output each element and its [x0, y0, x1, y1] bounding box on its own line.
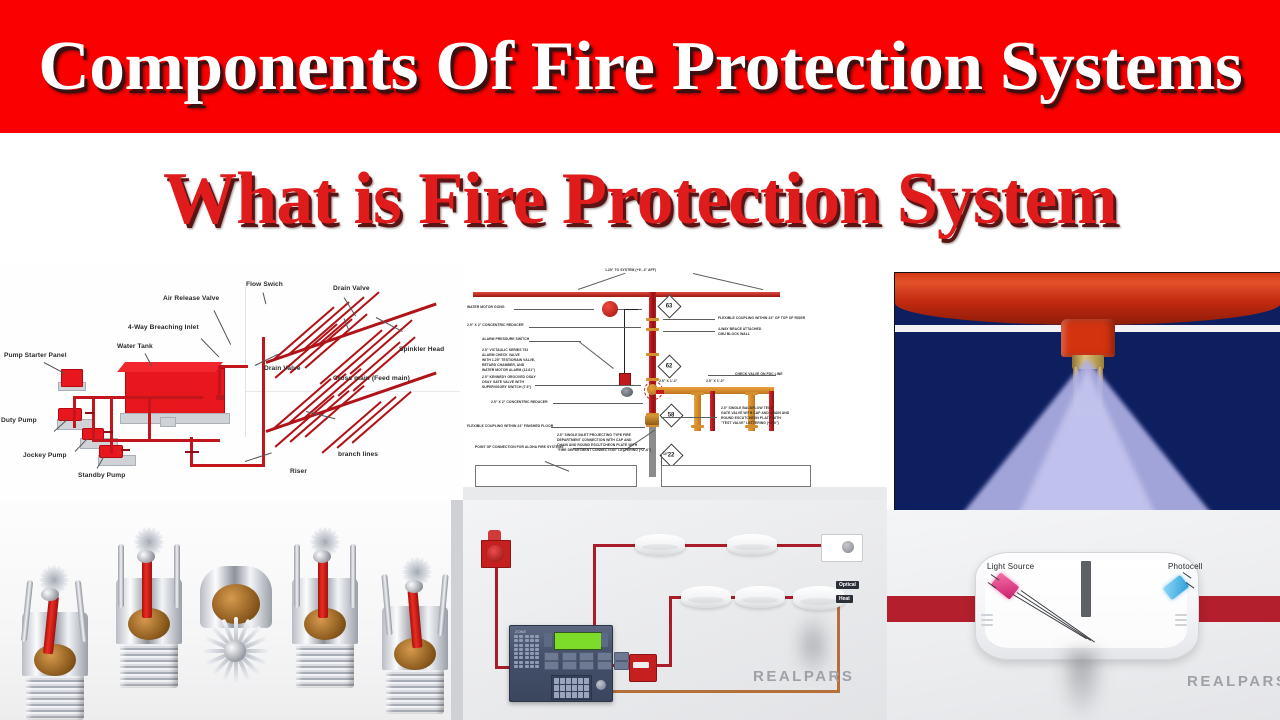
label-spinkler-head: Spinkler Head — [399, 346, 444, 353]
tag-optical: Optical — [836, 581, 859, 589]
label-pump-starter-panel: Pump Starter Panel — [4, 352, 67, 359]
zone-led-grid — [514, 635, 539, 668]
schematic-drawing: Pump Starter Panel Water Tank 4-Way Brea… — [0, 265, 463, 500]
label-drain-valve-top: Drain Valve — [333, 285, 370, 292]
smoke-detector-3 — [681, 586, 731, 608]
note-water-motor-gong: WATER MOTOR GONG — [467, 305, 505, 310]
vent-left-1 — [981, 614, 993, 616]
panel-keypad[interactable] — [551, 675, 592, 700]
panel-sprinkler-heads-photo — [0, 500, 463, 720]
bubble-22-text: 22 — [668, 453, 675, 459]
bubble-63-text: 63 — [666, 304, 673, 310]
interface-module-led — [842, 541, 854, 553]
image-collage: Pump Starter Panel Water Tank 4-Way Brea… — [0, 265, 1280, 720]
vent-right-1 — [1175, 614, 1187, 616]
bubble-58-text: 58 — [668, 413, 675, 419]
vent-right-2 — [1175, 619, 1187, 621]
note-kennedy-osy-valve: 2.5" KENNEDY GROOVED OS&Y OS&Y GATE VALV… — [482, 375, 536, 390]
subtitle-text: What is Fire Protection System — [163, 162, 1117, 236]
note-flexible-coupling-riser: FLEXIBLE COUPLING WITHIN 24" OF TOP OF R… — [718, 316, 805, 321]
bubble-tag-58: 58 — [659, 403, 683, 427]
smoke-detector-1 — [635, 534, 685, 555]
label-4way-breaching-inlet: 4-Way Breaching Inlet — [128, 324, 199, 331]
lcd-right-buttons — [601, 633, 608, 647]
note-backflow-test-valve: 2.5" SINGLE BACKFLOW TEST GATE VALVE WIT… — [721, 406, 789, 426]
note-concentric-reducer-top: 2.5" X 2" CONCENTRIC REDUCER — [467, 323, 524, 328]
label-light-source: Light Source — [987, 562, 1034, 571]
panel-function-buttons-row2[interactable] — [544, 661, 629, 670]
panel-key-switch[interactable] — [596, 680, 606, 690]
label-duty-pump: Duty Pump — [1, 417, 37, 424]
lcd-left-buttons — [544, 633, 552, 647]
realpars-watermark: REALPARS — [753, 668, 854, 685]
drawing-footer-strip — [463, 487, 887, 500]
panel-sprinkler-schematic: Pump Starter Panel Water Tank 4-Way Brea… — [0, 265, 463, 500]
sounder-wire-vertical — [495, 558, 498, 668]
title-banner: Components Of Fire Protection Systems — [0, 0, 1280, 133]
note-4way-brace: 4-WAY BRACE ATTACHED CMU BLOCK WALL — [718, 327, 761, 337]
vent-right-3 — [1175, 624, 1187, 626]
note-to-system: 1.25" TO SYSTEM (+9'- 4" AFF) — [605, 268, 656, 273]
panel-lcd-display — [554, 632, 602, 650]
note-flexible-coupling-floor: FLEXIBLE COUPLING WITHIN 24" FINISHED FL… — [467, 424, 553, 429]
photo-edge-strip — [451, 500, 463, 720]
pipe-left — [887, 596, 983, 622]
backflow-test-valve-icon — [645, 415, 659, 425]
label-riser: Riser — [290, 468, 307, 475]
loop-wire-top-horizontal — [593, 544, 833, 547]
label-water-tank: Water Tank — [117, 343, 153, 350]
water-spray-core — [1017, 368, 1157, 517]
bubble-tag-63: 63 — [657, 294, 681, 318]
note-check-valve-fdc: CHECK VALVE ON FDC LINE — [735, 372, 783, 377]
slab-dimension: 10" — [663, 452, 669, 457]
pendent-sprinkler-image — [894, 272, 1280, 517]
vent-left-3 — [981, 624, 993, 626]
return-loop-bottom — [609, 690, 840, 693]
panel-function-buttons[interactable] — [544, 652, 629, 661]
label-branch-lines: branch lines — [338, 451, 378, 458]
water-motor-gong-icon — [602, 301, 618, 317]
realpars-watermark-detector: REALPARS — [1187, 673, 1280, 690]
panel-pendent-sprinkler-photo — [887, 265, 1280, 517]
note-alarm-pressure-switch: ALARM PRESSURE SWITCH — [482, 337, 529, 342]
panel-zone-label: ZONE — [515, 629, 526, 634]
pipe-right — [1193, 596, 1280, 622]
note-victaulic-alarm-check-valve: 2.5" VICTAULIC SERIES 751 ALARM CHECK VA… — [482, 348, 535, 373]
tag-heat: Heat — [836, 595, 853, 603]
label-air-release-valve: Air Release Valve — [163, 295, 219, 302]
note-concentric-reducer-bottom: 2.5" X 2" CONCENTRIC REDUCER — [491, 400, 548, 405]
manual-call-point — [629, 654, 657, 682]
page-title: Components Of Fire Protection Systems — [38, 32, 1242, 102]
fire-alarm-control-panel: ZONE — [509, 625, 613, 702]
sounder-cone-icon — [487, 545, 504, 562]
label-jockey-pump: Jockey Pump — [23, 452, 67, 459]
panel-fire-alarm-diagram: Optical Heat ZONE — [463, 500, 887, 720]
dimension-tag-1: 2.5" X 1'-3" — [659, 379, 677, 384]
loop-wire-vertical-to-panel — [593, 544, 596, 628]
dimension-tag-2: 2.5" X 1'-0" — [706, 379, 724, 384]
label-cross-main: Cross main (Feed main) — [333, 375, 410, 382]
bubble-tag-62: 62 — [657, 354, 681, 378]
loop-wire-mid-vertical — [669, 596, 672, 666]
vent-left-2 — [981, 619, 993, 621]
smoke-detector-4 — [735, 586, 785, 608]
panel-riser-drawing: 1.25" TO SYSTEM (+9'- 4" AFF) 63 62 58 2… — [463, 265, 887, 500]
note-point-of-connection: POINT OF CONNECTION FOR ALOHA FIRE SYSTE… — [475, 445, 564, 450]
sprinkler-body — [1061, 319, 1115, 357]
beacon-icon — [488, 530, 501, 540]
note-fdc-inlet: 2.5" SINGLE INLET PROJECTING TYPE FIRE D… — [557, 433, 651, 453]
label-standby-pump: Standby Pump — [78, 472, 125, 479]
smoke-detector-2 — [727, 534, 777, 555]
smoke-plume — [1059, 650, 1105, 720]
label-flow-swich: Flow Swich — [246, 281, 283, 288]
label-drain-valve-mid: Drain Valve — [264, 365, 301, 372]
ceiling-pipe — [895, 273, 1280, 325]
subtitle-bar: What is Fire Protection System — [0, 133, 1280, 265]
retard-chamber-icon — [621, 387, 633, 397]
light-baffle — [1081, 561, 1091, 617]
panel-smoke-detector-diagram: Light Source Photocell REALPARS — [887, 510, 1280, 720]
label-photocell: Photocell — [1168, 562, 1203, 571]
bubble-62-text: 62 — [666, 364, 673, 370]
